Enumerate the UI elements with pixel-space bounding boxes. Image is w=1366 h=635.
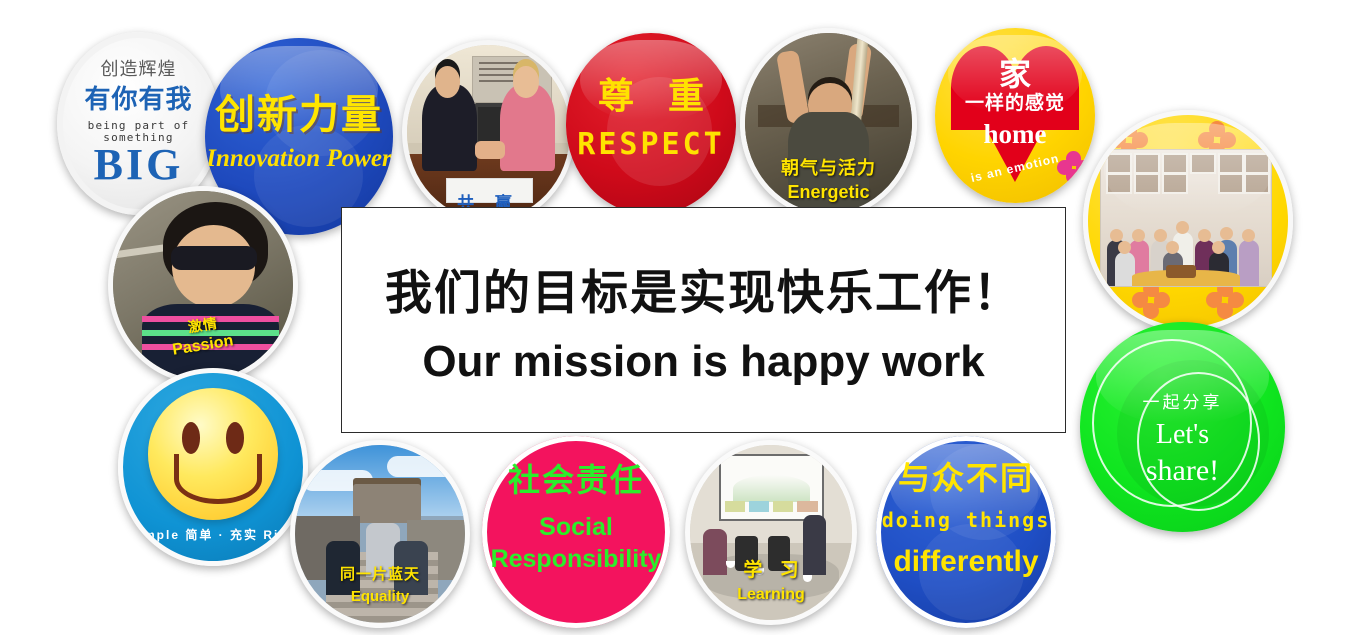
mission-banner: 我们的目标是实现快乐工作！ Our mission is happy work — [341, 207, 1066, 433]
badge-equality-line2: Equality — [295, 589, 465, 605]
badge-energetic[interactable]: 朝气与活力 Energetic — [740, 28, 917, 218]
team-group-photo — [1100, 149, 1272, 287]
badge-social-line1: 社会责任 — [482, 464, 670, 498]
badge-learning[interactable]: 学 习 Learning — [685, 440, 857, 625]
mission-title-chinese: 我们的目标是实现快乐工作！ — [385, 254, 1022, 323]
badge-share-line1: 一起分享 — [1080, 394, 1285, 412]
badge-big-line2: 有你有我 — [63, 86, 214, 113]
flower-icon — [1057, 151, 1091, 185]
badge-big-line1: 创造辉煌 — [63, 60, 214, 79]
badge-simple-and-rich[interactable]: Simple 简单 · 充实 Rich — [118, 368, 308, 566]
badge-share-line2: Let's — [1080, 420, 1285, 449]
badge-home-is-an-emotion[interactable]: 家 一样的感觉 home is an emotion — [935, 28, 1095, 203]
badge-respect[interactable]: 尊 重 RESPECT — [566, 33, 736, 215]
badge-learning-line2: Learning — [690, 587, 852, 604]
mission-title-english: Our mission is happy work — [422, 337, 984, 387]
badge-respect-line1: 尊 重 — [566, 77, 736, 115]
badge-smile-line1: Simple 简单 · 充实 Rich — [123, 529, 303, 542]
badge-innovation-line2: Innovation Power — [205, 146, 393, 172]
badge-win-win[interactable]: 共 赢 Win-Win — [402, 40, 575, 225]
badge-home-line2: 一样的感觉 — [935, 94, 1095, 114]
badge-share-line3: share! — [1080, 455, 1285, 487]
badge-different-line2: doing things — [876, 510, 1056, 531]
badge-equality-line1: 同一片蓝天 — [295, 567, 465, 583]
badge-family-photo[interactable] — [1083, 110, 1293, 332]
badge-social-line2: Social — [482, 514, 670, 540]
badge-home-line3: home — [935, 120, 1095, 148]
poster-canvas: 创造辉煌 有你有我 being part of something BIG 创新… — [0, 0, 1366, 635]
badge-innovation-line1: 创新力量 — [205, 94, 393, 136]
badge-learning-line1: 学 习 — [690, 561, 852, 581]
badge-energetic-line1: 朝气与活力 — [745, 159, 912, 178]
badge-energetic-line2: Energetic — [745, 183, 912, 202]
badge-passion[interactable]: 激情 Passion — [108, 186, 298, 384]
badge-social-line3: Responsibility — [482, 546, 670, 572]
badge-home-line1: 家 — [935, 58, 1095, 92]
badge-different-line3: differently — [876, 546, 1056, 578]
badge-social-responsibility[interactable]: 社会责任 Social Responsibility — [482, 436, 670, 628]
badge-lets-share[interactable]: 一起分享 Let's share! — [1080, 322, 1285, 532]
badge-equality[interactable]: 同一片蓝天 Equality — [290, 440, 470, 628]
smiley-face-icon — [148, 388, 278, 520]
badge-respect-line2: RESPECT — [566, 129, 736, 161]
badge-different-line1: 与众不同 — [876, 462, 1056, 496]
badge-doing-things-differently[interactable]: 与众不同 doing things differently — [876, 436, 1056, 628]
badge-big-line4: BIG — [63, 142, 214, 188]
